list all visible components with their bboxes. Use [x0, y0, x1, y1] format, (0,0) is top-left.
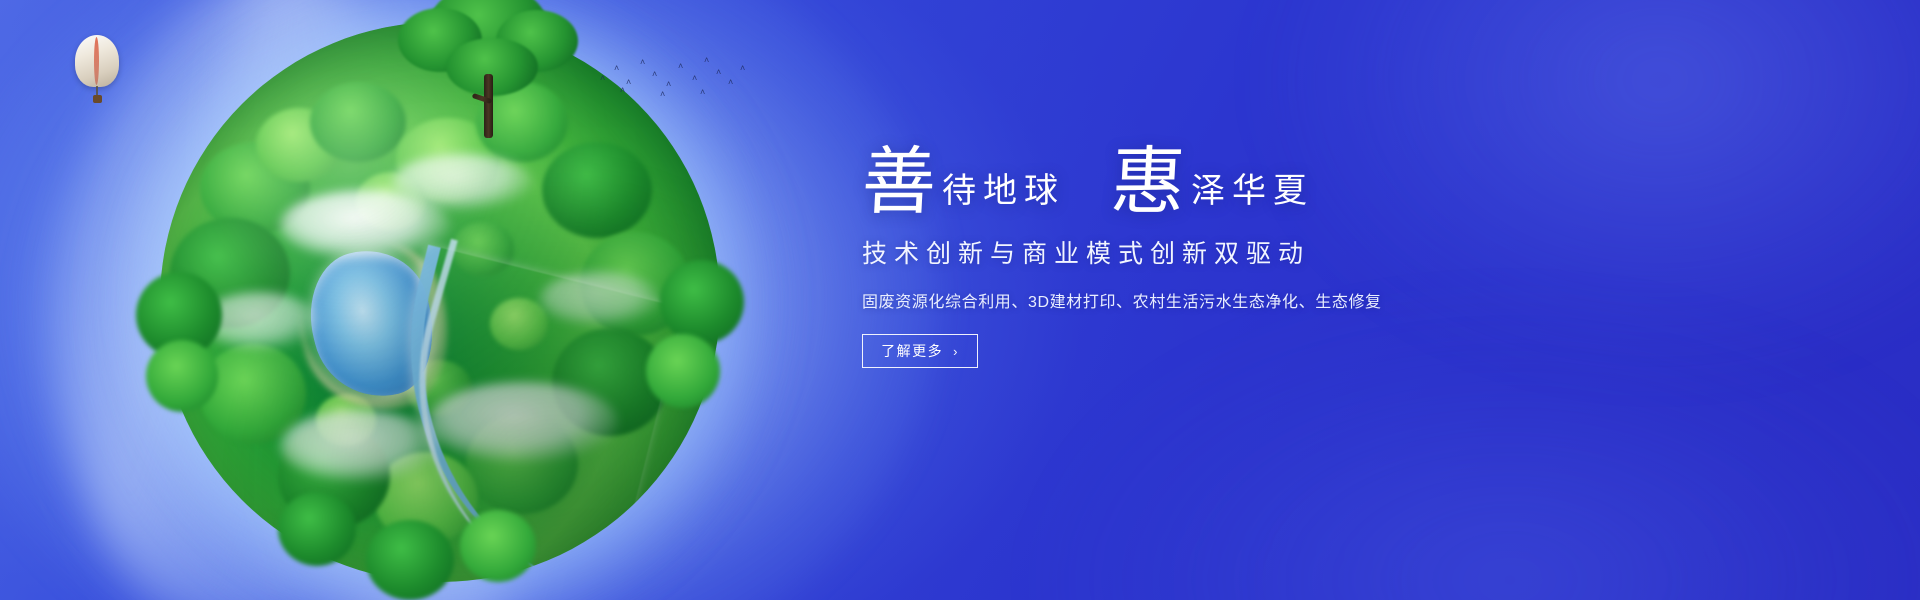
chevron-right-icon: › [953, 344, 959, 359]
headline-char-2: 惠 [1109, 148, 1193, 216]
headline-char-1: 善 [860, 148, 944, 216]
hero-banner: ˄ ˄ ˄ ˄ ˄ ˄ ˄ ˄ ˄ ˄ ˄ ˄ ˄ ˄ ˄ 善 待地球 惠 泽华… [0, 0, 1920, 600]
lake [296, 238, 448, 411]
headline-rest-2: 泽华夏 [1191, 174, 1314, 216]
hot-air-balloon [75, 35, 119, 107]
hero-subtitle: 技术创新与商业模式创新双驱动 [862, 234, 1502, 270]
hero-tree [392, 0, 582, 142]
balloon-stripe [94, 37, 99, 85]
hero-content: 善 待地球 惠 泽华夏 技术创新与商业模式创新双驱动 固废资源化综合利用、3D建… [862, 120, 1502, 368]
headline-rest-1: 待地球 [942, 174, 1065, 216]
hero-description: 固废资源化综合利用、3D建材打印、农村生活污水生态净化、生态修复 [862, 288, 1502, 312]
headline: 善 待地球 惠 泽华夏 [862, 120, 1502, 216]
balloon-basket [93, 95, 102, 103]
birds-flock: ˄ ˄ ˄ ˄ ˄ ˄ ˄ ˄ ˄ ˄ ˄ ˄ ˄ ˄ ˄ [600, 50, 750, 96]
learn-more-button[interactable]: 了解更多 › [862, 334, 978, 368]
learn-more-label: 了解更多 [881, 341, 943, 361]
lake-shore [281, 223, 467, 428]
globe-image [160, 22, 720, 582]
